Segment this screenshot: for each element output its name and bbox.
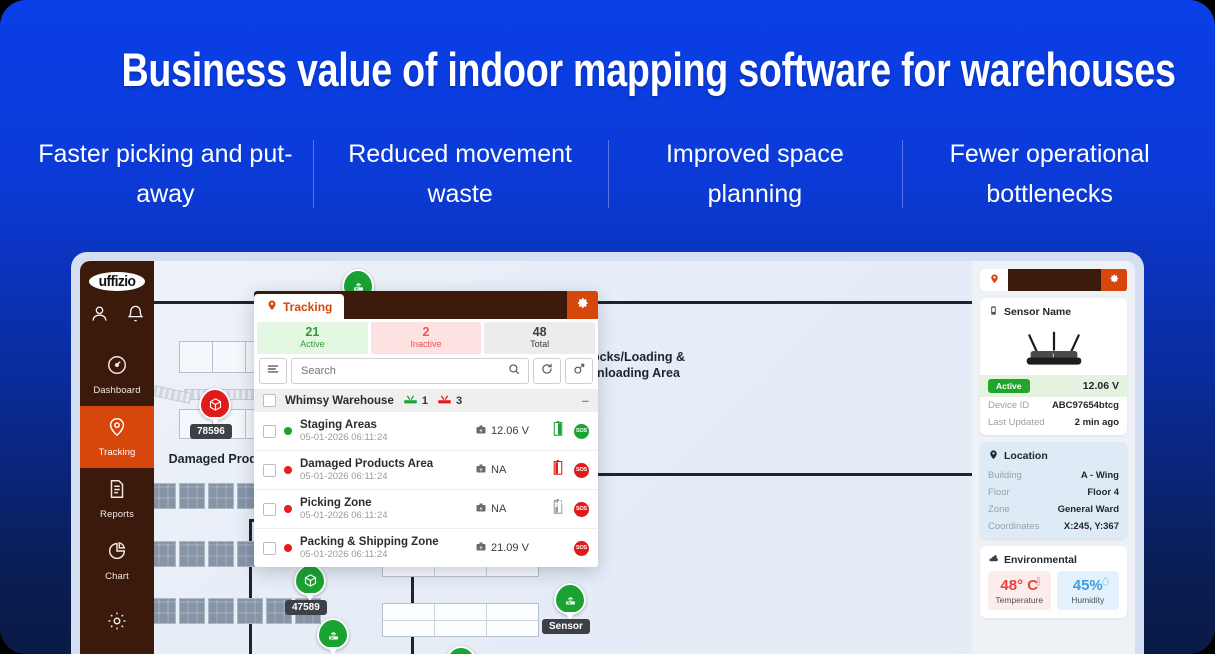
field-value: Floor 4 [1087,487,1119,498]
tab-tracking[interactable]: Tracking [254,294,344,319]
app-window-frame: uffizio Dashboard Tracking [71,252,1144,654]
dashboard-icon [106,354,128,381]
field-value: General Ward [1058,504,1119,515]
field-key: Building [988,470,1022,481]
temperature-caption: Temperature [990,595,1049,605]
sensor-icon [326,627,341,642]
row-timestamp: 05-01-2026 06:11:24 [300,510,467,522]
environmental-card-title: Environmental [1004,554,1077,566]
row-sos-badge[interactable]: SOS [574,463,589,478]
map-marker-package-78596[interactable] [199,388,231,420]
row-sos-badge[interactable]: SOS [574,502,589,517]
package-icon [208,397,223,412]
row-status-dot [284,466,292,474]
row-checkbox[interactable] [263,464,276,477]
location-card-title: Location [1004,450,1048,462]
sidebar-label-dashboard: Dashboard [93,385,140,396]
live-track-button[interactable] [565,358,593,384]
row-name-cell: Picking Zone 05-01-2026 06:11:24 [300,496,467,522]
location-field-building: Building A - Wing [980,467,1127,484]
field-key: Floor [988,487,1010,498]
group-name: Whimsy Warehouse [285,395,394,407]
benefit-item-3: Improved space planning [608,134,903,214]
benefit-item-4: Fewer operational bottlenecks [902,134,1197,214]
sidebar-item-dashboard[interactable]: Dashboard [80,344,154,406]
droplet-icon [1100,574,1111,592]
environmental-card: Environmental 48° C Temperature 45% [980,546,1127,618]
map-marker-sensor-right[interactable] [554,583,586,615]
row-sos-badge[interactable]: SOS [574,541,589,556]
stat-active[interactable]: 21 Active [257,322,368,354]
table-row[interactable]: Damaged Products Area 05-01-2026 06:11:2… [254,451,598,490]
app-window: uffizio Dashboard Tracking [80,261,1135,654]
field-key: Zone [988,504,1010,515]
sidebar-label-reports: Reports [100,509,134,520]
map-marker-package-47589[interactable] [294,564,326,596]
table-row[interactable]: Picking Zone 05-01-2026 06:11:24 NA SOS [254,490,598,529]
package-icon [303,573,318,588]
row-voltage-cell: NA [475,502,541,517]
router-device-image [980,323,1127,375]
sidebar-top-icons [90,304,145,328]
stat-total-caption: Total [484,339,595,350]
sensor-status-row: Active 12.06 V [980,375,1127,397]
row-voltage-value: 21.09 V [491,542,529,554]
table-row[interactable]: Packing & Shipping Zone 05-01-2026 06:11… [254,529,598,567]
detail-settings-button[interactable] [1101,269,1127,291]
row-device-name: Picking Zone [300,496,467,510]
benefit-item-1: Faster picking and put-away [18,134,313,214]
map-marker-label-package-78596: 78596 [190,424,232,439]
row-status-dot [284,544,292,552]
row-device-name: Packing & Shipping Zone [300,535,467,549]
report-document-icon [106,478,128,505]
row-device-name: Damaged Products Area [300,457,467,471]
row-timestamp: 05-01-2026 06:11:24 [300,432,467,444]
tab-tracking-label: Tracking [283,300,332,314]
status-badge: Active [988,379,1030,393]
sensor-field-last-updated: Last Updated 2 min ago [980,414,1127,435]
search-field[interactable] [291,358,529,384]
row-voltage-cell: 21.09 V [475,541,541,556]
field-key: Coordinates [988,521,1039,532]
group-online-count-value: 1 [422,395,428,407]
refresh-button[interactable] [533,358,561,384]
environmental-metrics: 48° C Temperature 45% Humidity [980,571,1127,618]
sensor-icon [563,592,578,607]
benefit-item-2: Reduced movement waste [313,134,608,214]
warehouse-map[interactable]: Docks/Loading & Unloading Area Damaged P… [154,261,1135,654]
gear-icon [576,296,590,315]
search-icon[interactable] [507,362,521,381]
search-input[interactable] [299,364,507,378]
stat-total[interactable]: 48 Total [484,322,595,354]
sidebar-item-reports[interactable]: Reports [80,468,154,530]
device-green-icon [403,394,418,407]
stat-inactive[interactable]: 2 Inactive [371,322,482,354]
app-logo-text: uffizio [99,273,136,290]
sidebar-label-chart: Chart [105,571,129,582]
tracking-panel: Tracking 21 Active 2 Inactiv [254,291,598,567]
sensor-voltage: 12.06 V [1083,380,1119,392]
sidebar-item-chart[interactable]: Chart [80,530,154,592]
row-checkbox[interactable] [263,425,276,438]
group-offline-count-value: 3 [456,395,462,407]
battery-level-icon [553,460,563,480]
temperature-metric: 48° C Temperature [988,571,1051,610]
user-icon[interactable] [90,304,109,328]
sensor-card-title: Sensor Name [1004,306,1071,318]
group-online-count: 1 [403,394,428,407]
group-offline-count: 3 [437,394,462,407]
sensor-icon [351,278,366,293]
battery-status-icon [475,502,487,517]
field-value: X:245, Y:367 [1064,521,1119,532]
row-checkbox[interactable] [263,542,276,555]
settings-gear-icon [106,610,128,637]
group-collapse-toggle[interactable]: – [582,396,589,406]
location-pin-icon [989,271,1000,289]
map-marker-sensor-bottom-left[interactable] [317,618,349,650]
device-icon [988,305,999,319]
sensor-card: Sensor Name [980,298,1127,435]
thermometer-icon [1032,574,1043,592]
forklift-icon [553,494,568,509]
humidity-caption: Humidity [1059,595,1118,605]
humidity-metric: 45% Humidity [1057,571,1120,610]
sidebar-item-settings[interactable] [80,592,154,654]
map-pin-icon [988,449,999,463]
location-field-floor: Floor Floor 4 [980,484,1127,501]
row-name-cell: Staging Areas 05-01-2026 06:11:24 [300,418,467,444]
row-status-dot [284,427,292,435]
detail-panel: Sensor Name [972,261,1135,654]
stat-active-number: 21 [257,325,368,339]
filter-list-icon [266,362,280,381]
device-red-icon [437,394,452,407]
row-voltage-value: NA [491,464,506,476]
refresh-icon [540,362,554,381]
group-checkbox[interactable] [263,394,276,407]
detail-panel-header [980,269,1127,291]
battery-status-icon [475,541,487,556]
table-row[interactable]: Staging Areas 05-01-2026 06:11:24 12.06 … [254,412,598,451]
app-logo: uffizio [89,272,145,291]
row-battery-cell [549,421,566,441]
page-title: Business value of indoor mapping softwar… [122,44,1094,96]
stat-total-number: 48 [484,325,595,339]
map-marker-label-sensor-right: Sensor [542,619,590,634]
row-voltage-value: 12.06 V [491,425,529,437]
poster-stage: Business value of indoor mapping softwar… [0,0,1215,654]
location-pin-icon [106,416,128,443]
field-value: ABC97654btcg [1052,400,1119,411]
stat-active-caption: Active [257,339,368,350]
battery-status-icon [475,424,487,439]
row-timestamp: 05-01-2026 06:11:24 [300,471,467,483]
stat-inactive-caption: Inactive [371,339,482,350]
tracking-settings-button[interactable] [567,291,598,319]
map-marker-label-package-47589: 47589 [285,600,327,615]
gear-icon [1109,271,1120,289]
sensor-card-title-row: Sensor Name [980,298,1127,323]
row-device-name: Staging Areas [300,418,467,432]
location-field-coordinates: Coordinates X:245, Y:367 [980,518,1127,539]
gradient-background: Business value of indoor mapping softwar… [0,0,1215,654]
detail-location-button[interactable] [980,269,1008,291]
bell-icon[interactable] [126,304,145,328]
device-group-row[interactable]: Whimsy Warehouse 1 3 – [254,389,598,412]
location-field-zone: Zone General Ward [980,501,1127,518]
battery-level-icon [553,421,563,441]
field-key: Device ID [988,400,1029,411]
sidebar-item-tracking[interactable]: Tracking [80,406,154,468]
field-value: A - Wing [1081,470,1119,481]
sensor-field-device-id: Device ID ABC97654btcg [980,397,1127,414]
row-sos-badge[interactable]: SOS [574,424,589,439]
sidebar-label-tracking: Tracking [99,447,136,458]
location-card: Location Building A - Wing Floor Floor 4… [980,442,1127,539]
location-pin-icon [266,299,278,314]
sidebar-nav: Dashboard Tracking Reports Chart [80,344,154,654]
forklift-icon [351,448,366,463]
pie-chart-icon [106,540,128,567]
row-voltage-value: NA [491,503,506,515]
environmental-card-title-row: Environmental [980,546,1127,571]
benefits-row: Faster picking and put-away Reduced move… [18,134,1197,214]
location-card-title-row: Location [980,442,1127,467]
field-value: 2 min ago [1075,417,1119,428]
row-battery-cell [549,460,566,480]
tracking-stats: 21 Active 2 Inactive 48 Total [254,319,598,357]
row-checkbox[interactable] [263,503,276,516]
row-voltage-cell: NA [475,463,541,478]
live-track-icon [572,362,586,381]
weather-icon [988,553,999,567]
staging-bay-3 [382,603,539,637]
router-illustration [1015,327,1093,371]
row-status-dot [284,505,292,513]
row-voltage-cell: 12.06 V [475,424,541,439]
tracking-searchbar [254,357,598,389]
filter-list-button[interactable] [259,358,287,384]
stat-inactive-number: 2 [371,325,482,339]
sidebar: uffizio Dashboard Tracking [80,261,154,654]
row-name-cell: Damaged Products Area 05-01-2026 06:11:2… [300,457,467,483]
battery-status-icon [475,463,487,478]
row-timestamp: 05-01-2026 06:11:24 [300,549,467,561]
tracking-panel-header: Tracking [254,291,598,319]
row-name-cell: Packing & Shipping Zone 05-01-2026 06:11… [300,535,467,561]
field-key: Last Updated [988,417,1045,428]
